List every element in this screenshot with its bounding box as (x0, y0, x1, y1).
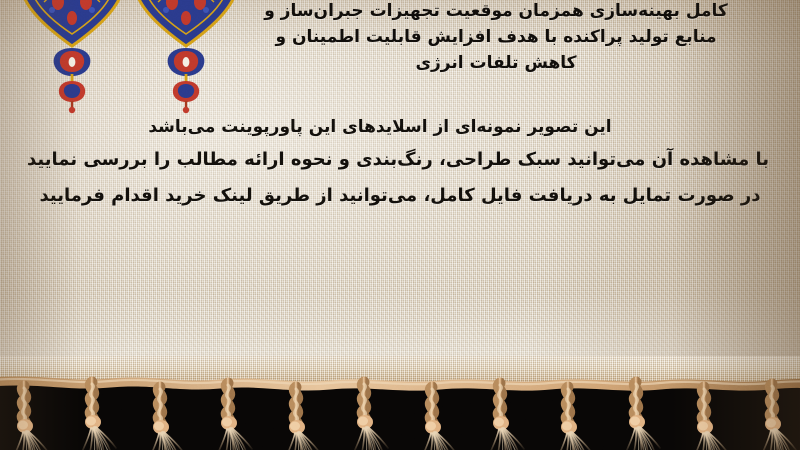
tassel-item (286, 387, 320, 450)
tassel-item (626, 382, 660, 450)
tassel-item (218, 383, 252, 450)
tassel-row (0, 356, 800, 450)
body-line-1: این تصویر نمونه‌ای از اسلایدهای این پاور… (0, 112, 800, 142)
tassel-item (354, 382, 388, 450)
tassel-item (150, 387, 184, 450)
slide-text-area: کامل بهینه‌سازی همزمان موقعیت تجهیزات جب… (0, 0, 800, 372)
title-line-1: کامل بهینه‌سازی همزمان موقعیت تجهیزات جب… (216, 0, 776, 24)
tassel-item (762, 384, 796, 450)
carpet-fringe-zone (0, 356, 800, 450)
slide-body: این تصویر نمونه‌ای از اسلایدهای این پاور… (0, 112, 800, 214)
title-line-3: کاهش تلفات انرژی (216, 50, 776, 76)
tassel-item (558, 387, 592, 450)
tassel-item (490, 383, 524, 450)
tassel-item (694, 387, 728, 450)
tassel-item (14, 386, 48, 450)
body-line-2: با مشاهده آن می‌توانید سبک طراحی، رنگ‌بن… (0, 142, 800, 178)
tassel-item (422, 387, 456, 450)
slide-title: کامل بهینه‌سازی همزمان موقعیت تجهیزات جب… (216, 0, 776, 76)
slide-canvas: کامل بهینه‌سازی همزمان موقعیت تجهیزات جب… (0, 0, 800, 450)
tassel-item (82, 382, 116, 450)
title-line-2: منابع تولید پراکنده با هدف افزایش قابلیت… (216, 24, 776, 50)
body-line-3: در صورت تمایل به دریافت فایل کامل، می‌تو… (0, 178, 800, 214)
